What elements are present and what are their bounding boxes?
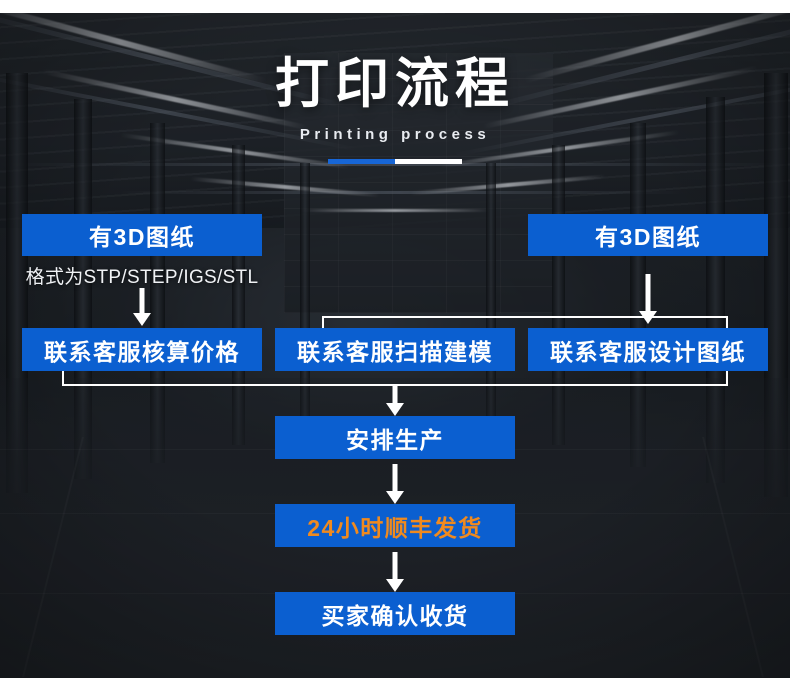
arrow-right-top-to-mid [638, 274, 658, 326]
arrow-head [386, 491, 404, 504]
flow-node-shipping[interactable]: 24小时顺丰发货 [275, 504, 515, 547]
flow-node-left-mid[interactable]: 联系客服核算价格 [22, 328, 262, 371]
flow-node-label: 有3D图纸 [89, 218, 195, 252]
flow-diagram: 有3D图纸 有3D图纸 格式为STP/STEP/IGS/STL 联系客服核算价格… [0, 0, 790, 696]
flow-node-confirm[interactable]: 买家确认收货 [275, 592, 515, 635]
printing-process-infographic: 打印流程 Printing process 有3D图纸 有3D图纸 格式为STP… [0, 0, 790, 696]
arrow-shaft [393, 384, 398, 404]
arrow-shaft [393, 464, 398, 492]
format-note: 格式为STP/STEP/IGS/STL [22, 262, 262, 289]
top-white-band [0, 0, 790, 13]
flow-node-left-top[interactable]: 有3D图纸 [22, 214, 262, 256]
flow-node-label: 有3D图纸 [595, 218, 701, 252]
flow-node-label: 安排生产 [346, 421, 444, 455]
arrow-head [133, 313, 151, 326]
flow-node-label: 联系客服扫描建模 [297, 333, 493, 367]
flow-node-center-mid[interactable]: 联系客服扫描建模 [275, 328, 515, 371]
arrow-head [386, 403, 404, 416]
flow-node-right-mid[interactable]: 联系客服设计图纸 [528, 328, 768, 371]
arrow-shipping-to-confirm [385, 552, 405, 592]
arrow-mid-to-production [385, 384, 405, 416]
arrow-left-top-to-mid [132, 288, 152, 326]
flow-node-label: 24小时顺丰发货 [307, 509, 483, 543]
bottom-white-band [0, 678, 790, 696]
connector-top-bracket-horizontal [322, 316, 728, 318]
flow-node-label: 买家确认收货 [322, 597, 469, 631]
flow-node-right-top[interactable]: 有3D图纸 [528, 214, 768, 256]
arrow-shaft [646, 274, 651, 312]
arrow-head [386, 579, 404, 592]
flow-node-label: 联系客服核算价格 [44, 333, 240, 367]
flow-node-production[interactable]: 安排生产 [275, 416, 515, 459]
arrow-shaft [140, 288, 145, 314]
flow-node-label: 联系客服设计图纸 [550, 333, 746, 367]
connector-bottom-right-riser [726, 371, 728, 385]
arrow-production-to-shipping [385, 464, 405, 504]
arrow-shaft [393, 552, 398, 580]
connector-bottom-left-riser [62, 371, 64, 385]
